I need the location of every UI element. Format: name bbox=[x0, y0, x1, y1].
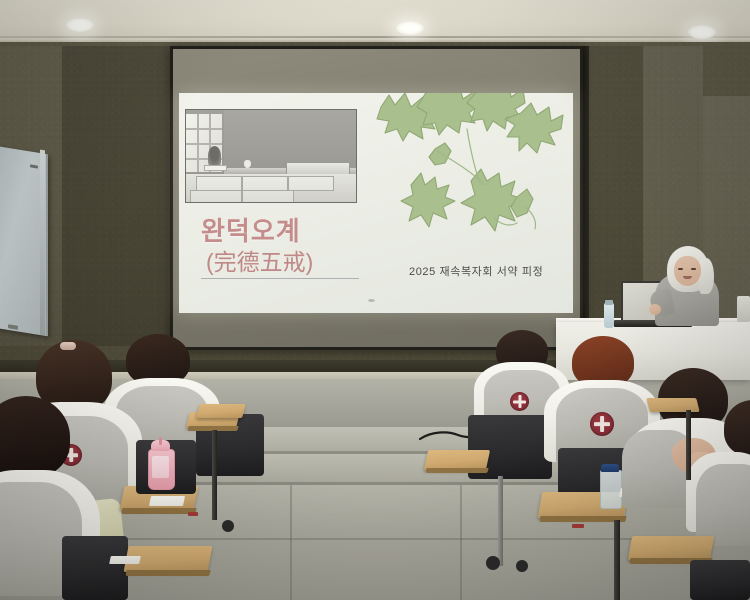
photo-mat bbox=[242, 190, 294, 203]
tumbler-straw bbox=[159, 437, 162, 445]
chair-back bbox=[62, 536, 128, 600]
desk-latch bbox=[572, 524, 584, 528]
order-emblem bbox=[510, 392, 529, 411]
table-item-right bbox=[737, 296, 750, 322]
slide-photo bbox=[185, 109, 357, 203]
photo-lamp bbox=[208, 146, 221, 166]
chair-wheel bbox=[516, 560, 528, 572]
photo-mat bbox=[288, 176, 334, 191]
ceiling-light-right bbox=[688, 25, 716, 39]
water-glass-lid bbox=[601, 464, 619, 472]
desk-top bbox=[196, 404, 246, 418]
water-bottle-cap bbox=[605, 300, 613, 305]
order-emblem bbox=[590, 412, 614, 436]
presenter-veil-side bbox=[699, 258, 714, 294]
water-glass-body bbox=[600, 470, 622, 509]
floor-joint bbox=[290, 485, 292, 600]
presenter-nun bbox=[655, 246, 719, 326]
photo-lamp-base bbox=[204, 165, 227, 171]
water-glass bbox=[600, 462, 620, 507]
chair-post bbox=[498, 476, 503, 566]
ceiling-light-left bbox=[66, 18, 94, 32]
water-bottle bbox=[604, 303, 614, 328]
desk-edge bbox=[125, 570, 210, 576]
attendee-vest bbox=[696, 464, 750, 546]
photo-mat bbox=[190, 190, 242, 203]
whiteboard-frame bbox=[40, 150, 45, 336]
desk-edge bbox=[425, 468, 488, 473]
foliage-illustration bbox=[375, 93, 571, 239]
desk-leg bbox=[212, 430, 217, 520]
chair-wheel bbox=[486, 556, 500, 570]
photo-mat bbox=[242, 176, 288, 191]
presenter-face bbox=[674, 256, 701, 286]
desk-top bbox=[646, 398, 699, 412]
ceiling-seam bbox=[0, 36, 750, 38]
chair-back bbox=[690, 560, 750, 600]
slide-marker bbox=[368, 299, 375, 302]
slide-caption: 2025 재속복자회 서약 피정 bbox=[409, 263, 543, 279]
tumbler-window bbox=[152, 456, 169, 478]
lecture-hall-photo: 완덕오계 (完德五戒) 2025 재속복자회 서약 피정 bbox=[0, 0, 750, 600]
photo-mat bbox=[196, 176, 242, 191]
desk-edge bbox=[121, 508, 196, 514]
photo-vase bbox=[244, 160, 251, 168]
hair-clip bbox=[60, 342, 76, 350]
desk-paper bbox=[149, 496, 185, 506]
presenter-hand bbox=[649, 304, 661, 315]
desk-latch bbox=[188, 512, 198, 516]
presentation-slide: 완덕오계 (完德五戒) 2025 재속복자회 서약 피정 bbox=[179, 93, 573, 313]
wall-panel-left-dark bbox=[62, 46, 170, 346]
desk-top bbox=[424, 450, 490, 470]
desk-paper bbox=[109, 556, 141, 564]
ceiling-light-center bbox=[396, 21, 424, 35]
desk-top bbox=[628, 536, 714, 560]
pink-tumbler bbox=[148, 440, 173, 488]
desk-leg bbox=[614, 520, 620, 600]
slide-divider bbox=[201, 278, 359, 279]
slide-subtitle: (完德五戒) bbox=[206, 243, 313, 277]
floor-joint bbox=[460, 485, 462, 600]
desk-leg bbox=[686, 410, 691, 480]
chair-wheel bbox=[222, 520, 234, 532]
